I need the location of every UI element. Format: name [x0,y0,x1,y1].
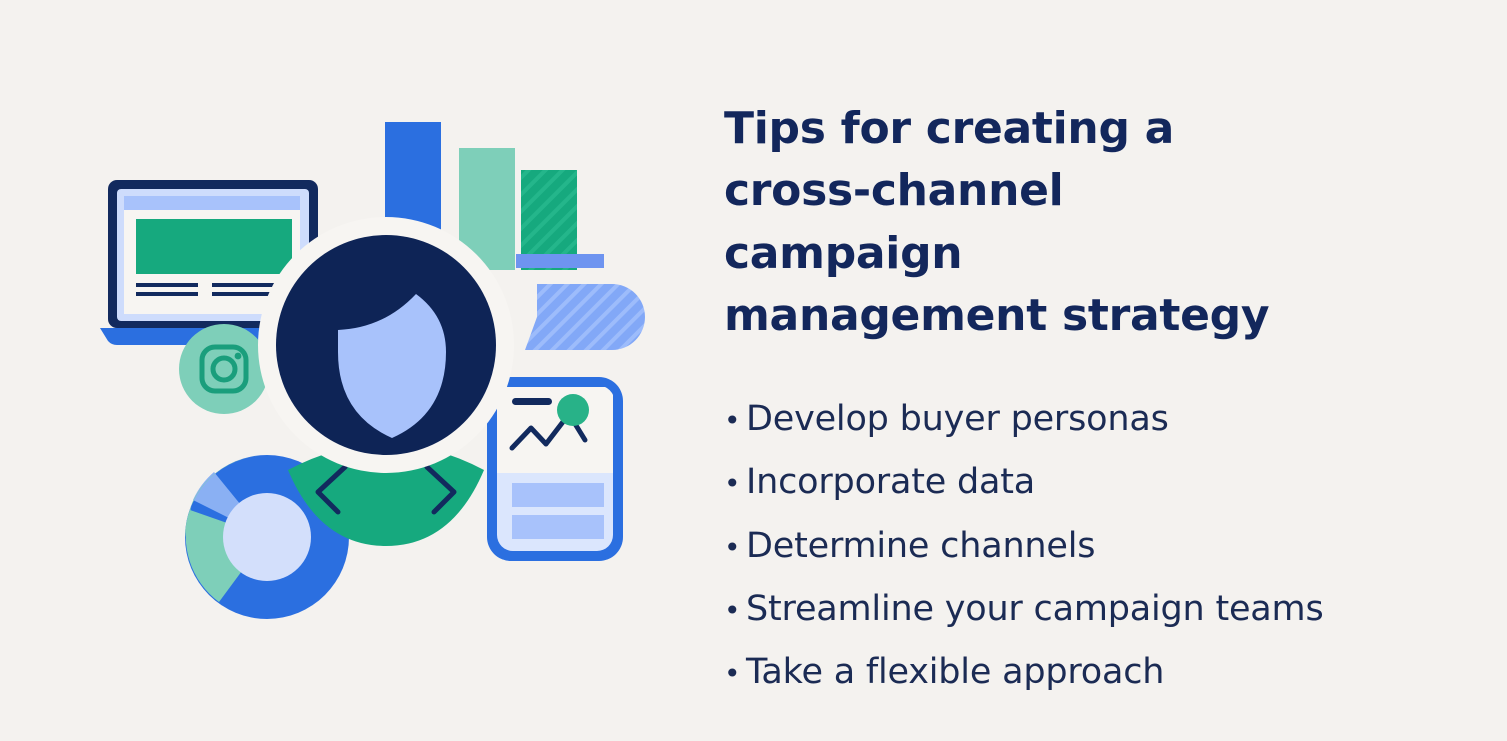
laptop-text-line [136,283,198,287]
list-item: • Determine channels [724,515,1507,578]
list-item-label: Take a flexible approach [746,641,1507,704]
bullet-icon: • [724,470,746,498]
page-title: Tips for creating a cross-channel campai… [724,98,1304,348]
bullet-icon: • [724,534,746,562]
list-item: • Streamline your campaign teams [724,578,1507,641]
bar-chart-baseline [516,254,604,268]
phone-bar-row [512,483,604,507]
list-item: • Take a flexible approach [724,641,1507,704]
striped-pill [525,284,645,350]
content-column: Tips for creating a cross-channel campai… [700,0,1507,705]
bullet-icon: • [724,597,746,625]
list-item-label: Incorporate data [746,451,1507,514]
laptop-titlebar [124,196,300,210]
list-item-label: Develop buyer personas [746,388,1507,451]
phone-report [487,377,623,561]
donut-center [223,493,311,581]
bullet-icon: • [724,407,746,435]
instagram-badge[interactable] [179,324,269,414]
list-item-label: Streamline your campaign teams [746,578,1507,641]
laptop-text-line [212,292,274,296]
illustration [0,0,700,741]
phone-title-line [512,398,552,405]
phone-bar-row [512,515,604,539]
laptop-hero-block [136,219,292,274]
tips-list: • Develop buyer personas • Incorporate d… [724,388,1507,705]
phone-chart-dot [557,394,589,426]
bullet-icon: • [724,660,746,688]
list-item: • Incorporate data [724,451,1507,514]
laptop-text-line [212,283,274,287]
list-item: • Develop buyer personas [724,388,1507,451]
instagram-badge-circle [179,324,269,414]
laptop-text-line [136,292,198,296]
instagram-icon-dot [235,353,242,360]
page-root: Tips for creating a cross-channel campai… [0,0,1507,741]
list-item-label: Determine channels [746,515,1507,578]
